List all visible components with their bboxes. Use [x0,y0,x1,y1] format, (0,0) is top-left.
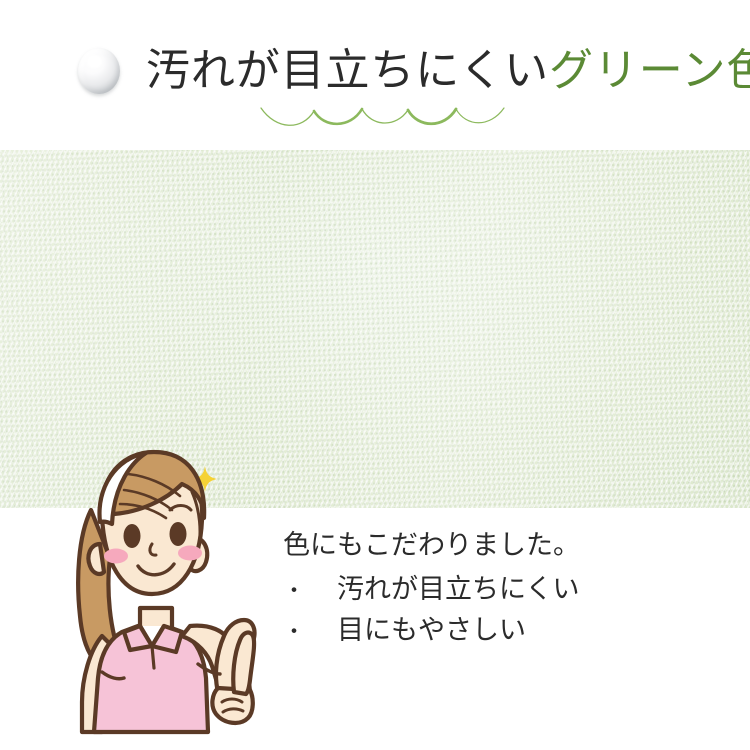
benefit-list: ・ 汚れが目立ちにくい ・ 目にもやさしい [283,569,713,653]
header-section: 汚れが目立ちにくいグリーン色 [0,0,750,150]
title-green-part: グリーン色 [549,46,750,95]
copy-lead-text: 色にもこだわりました。 [283,528,713,563]
list-item-label: 汚れが目立ちにくい [337,569,579,611]
page-title: 汚れが目立ちにくいグリーン色 [146,49,750,93]
pointing-woman-illustration [58,440,273,750]
promo-page: 汚れが目立ちにくいグリーン色 [0,0,750,750]
list-item: ・ 汚れが目立ちにくい [283,569,713,611]
bullet-mark: ・ [283,615,337,649]
benefit-copy-block: 色にもこだわりました。 ・ 汚れが目立ちにくい ・ 目にもやさしい [283,528,713,652]
scallop-underline-decoration [258,104,508,134]
list-item: ・ 目にもやさしい [283,610,713,652]
list-item-label: 目にもやさしい [337,610,526,652]
bullet-mark: ・ [283,574,337,608]
title-black-part: 汚れが目立ちにくい [146,46,549,95]
title-row: 汚れが目立ちにくいグリーン色 [78,48,750,94]
water-drop-bubble-icon [78,48,120,94]
